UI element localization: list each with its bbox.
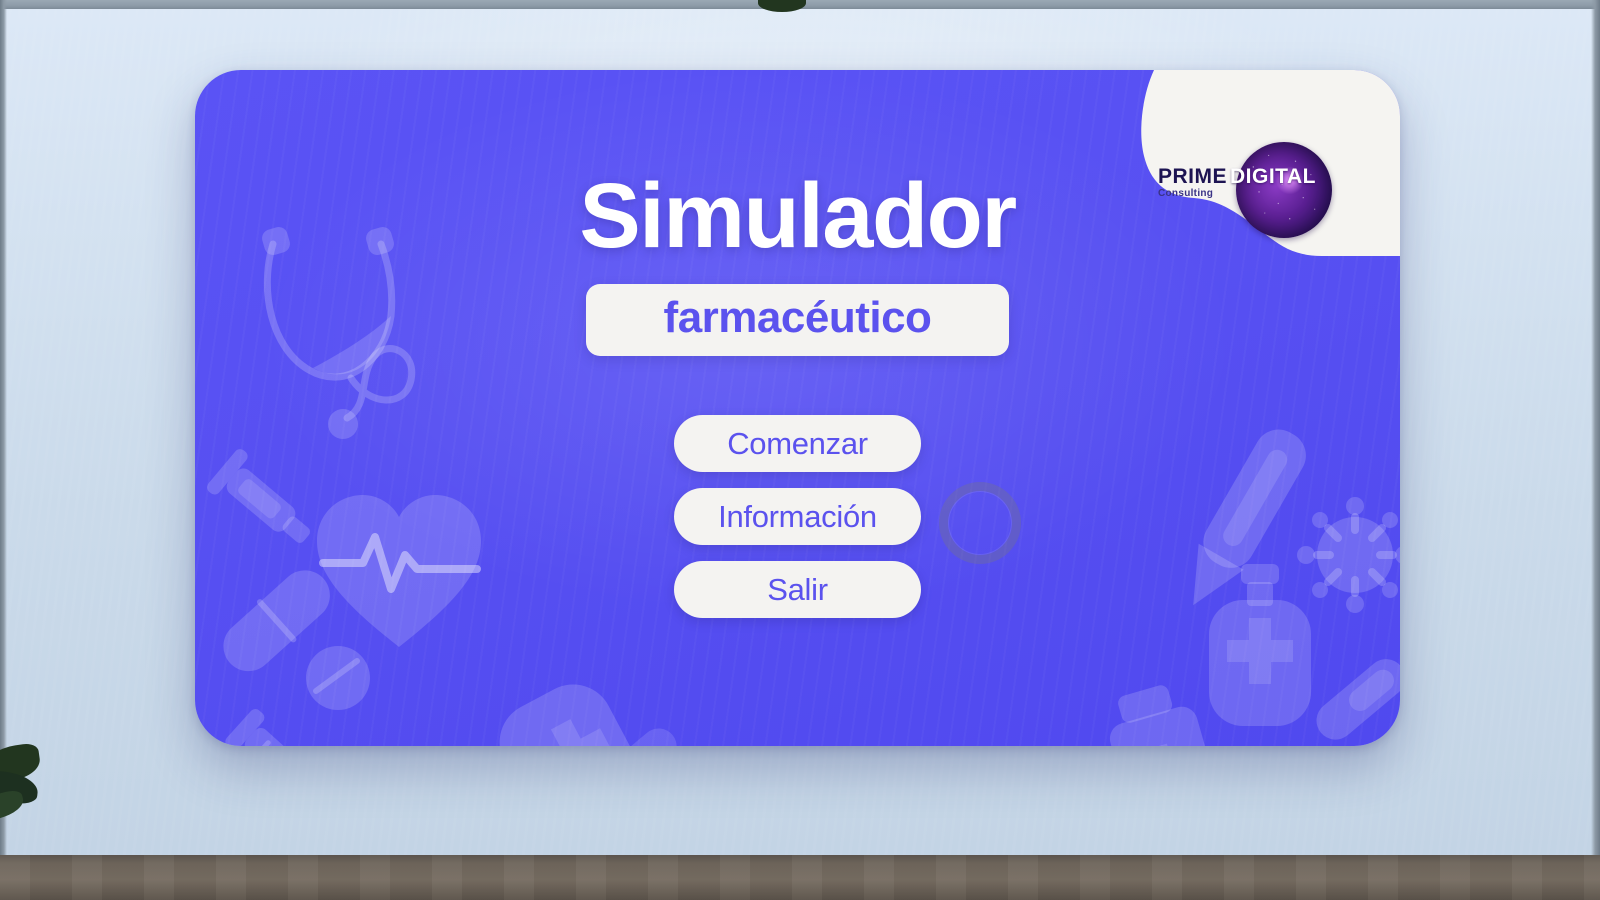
exit-button[interactable]: Salir (674, 561, 921, 618)
click-ring-cursor (939, 482, 1021, 564)
page-subtitle: farmacéutico (664, 296, 932, 340)
wall-edge-right (1591, 0, 1600, 860)
title-block: Simulador farmacéutico (195, 170, 1400, 356)
subtitle-pill: farmacéutico (586, 284, 1010, 356)
wall-edge-left (0, 0, 7, 860)
desk-grain (0, 855, 1600, 900)
screen: PRIMEDIGITAL Consulting Simulador farmac… (0, 0, 1600, 900)
info-button[interactable]: Información (674, 488, 921, 545)
app-card: PRIMEDIGITAL Consulting Simulador farmac… (195, 70, 1400, 746)
page-title: Simulador (195, 170, 1400, 262)
plant-leaf-icon (0, 742, 56, 826)
start-button[interactable]: Comenzar (674, 415, 921, 472)
main-menu: Comenzar Información Salir (195, 415, 1400, 618)
